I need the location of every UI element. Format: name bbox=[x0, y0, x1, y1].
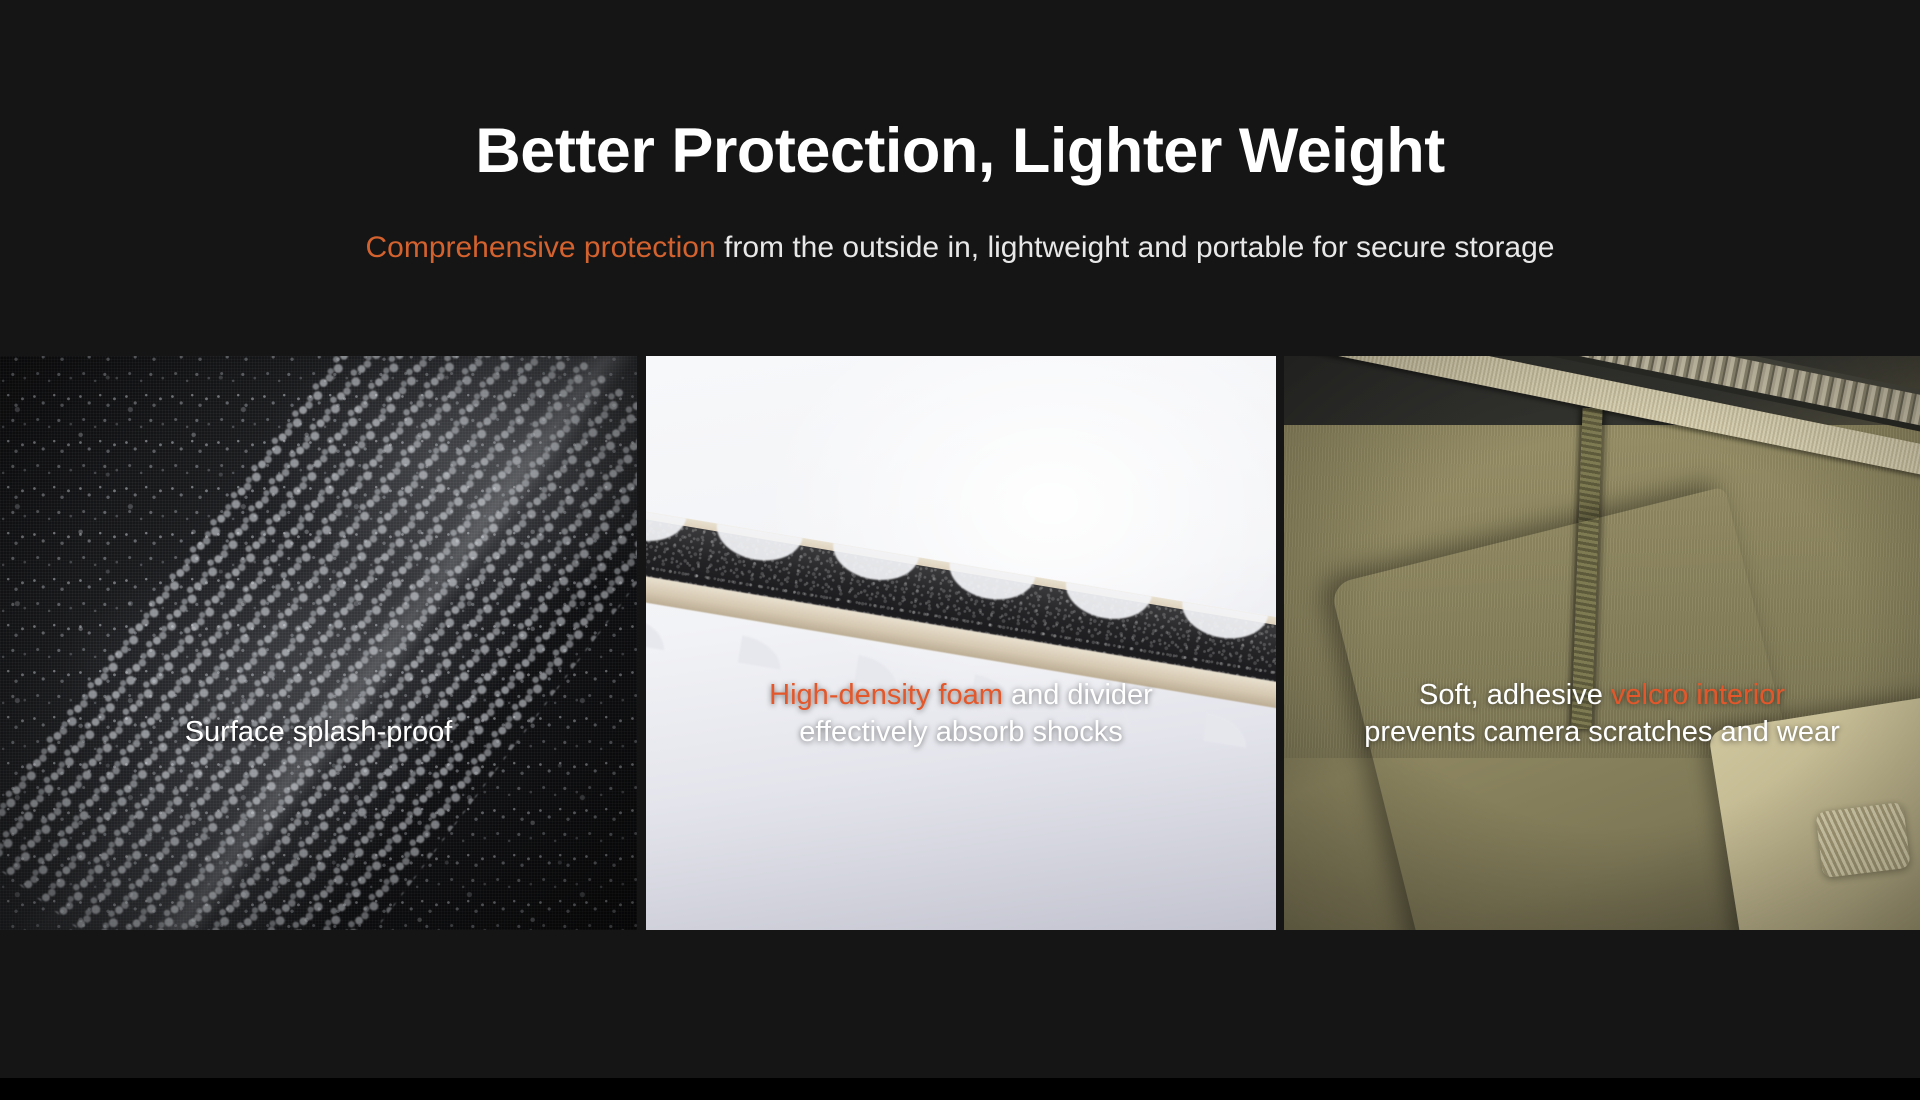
photo-vignette bbox=[0, 356, 637, 930]
subtitle-rest-text: from the outside in, lightweight and por… bbox=[716, 231, 1555, 264]
velcro-interior-photo bbox=[1284, 356, 1920, 930]
feature-panel-high-density-foam: High-density foam and divider effectivel… bbox=[646, 356, 1276, 930]
photo-vignette bbox=[1284, 356, 1920, 930]
feature-panel-band: Surface splash-proof High-density foam a… bbox=[0, 356, 1920, 930]
page-subtitle: Comprehensive protection from the outsid… bbox=[0, 230, 1920, 266]
subtitle-accent-text: Comprehensive protection bbox=[365, 231, 715, 264]
promo-page: Better Protection, Lighter Weight Compre… bbox=[0, 0, 1920, 1100]
page-title: Better Protection, Lighter Weight bbox=[0, 120, 1920, 183]
feature-panel-splash-proof: Surface splash-proof bbox=[0, 356, 637, 930]
footer-bar bbox=[0, 1078, 1920, 1100]
feature-panel-velcro-interior: Soft, adhesive velcro interior prevents … bbox=[1284, 356, 1920, 930]
splash-proof-photo bbox=[0, 356, 637, 930]
high-density-foam-photo bbox=[646, 356, 1276, 930]
header-section: Better Protection, Lighter Weight Compre… bbox=[0, 0, 1920, 356]
